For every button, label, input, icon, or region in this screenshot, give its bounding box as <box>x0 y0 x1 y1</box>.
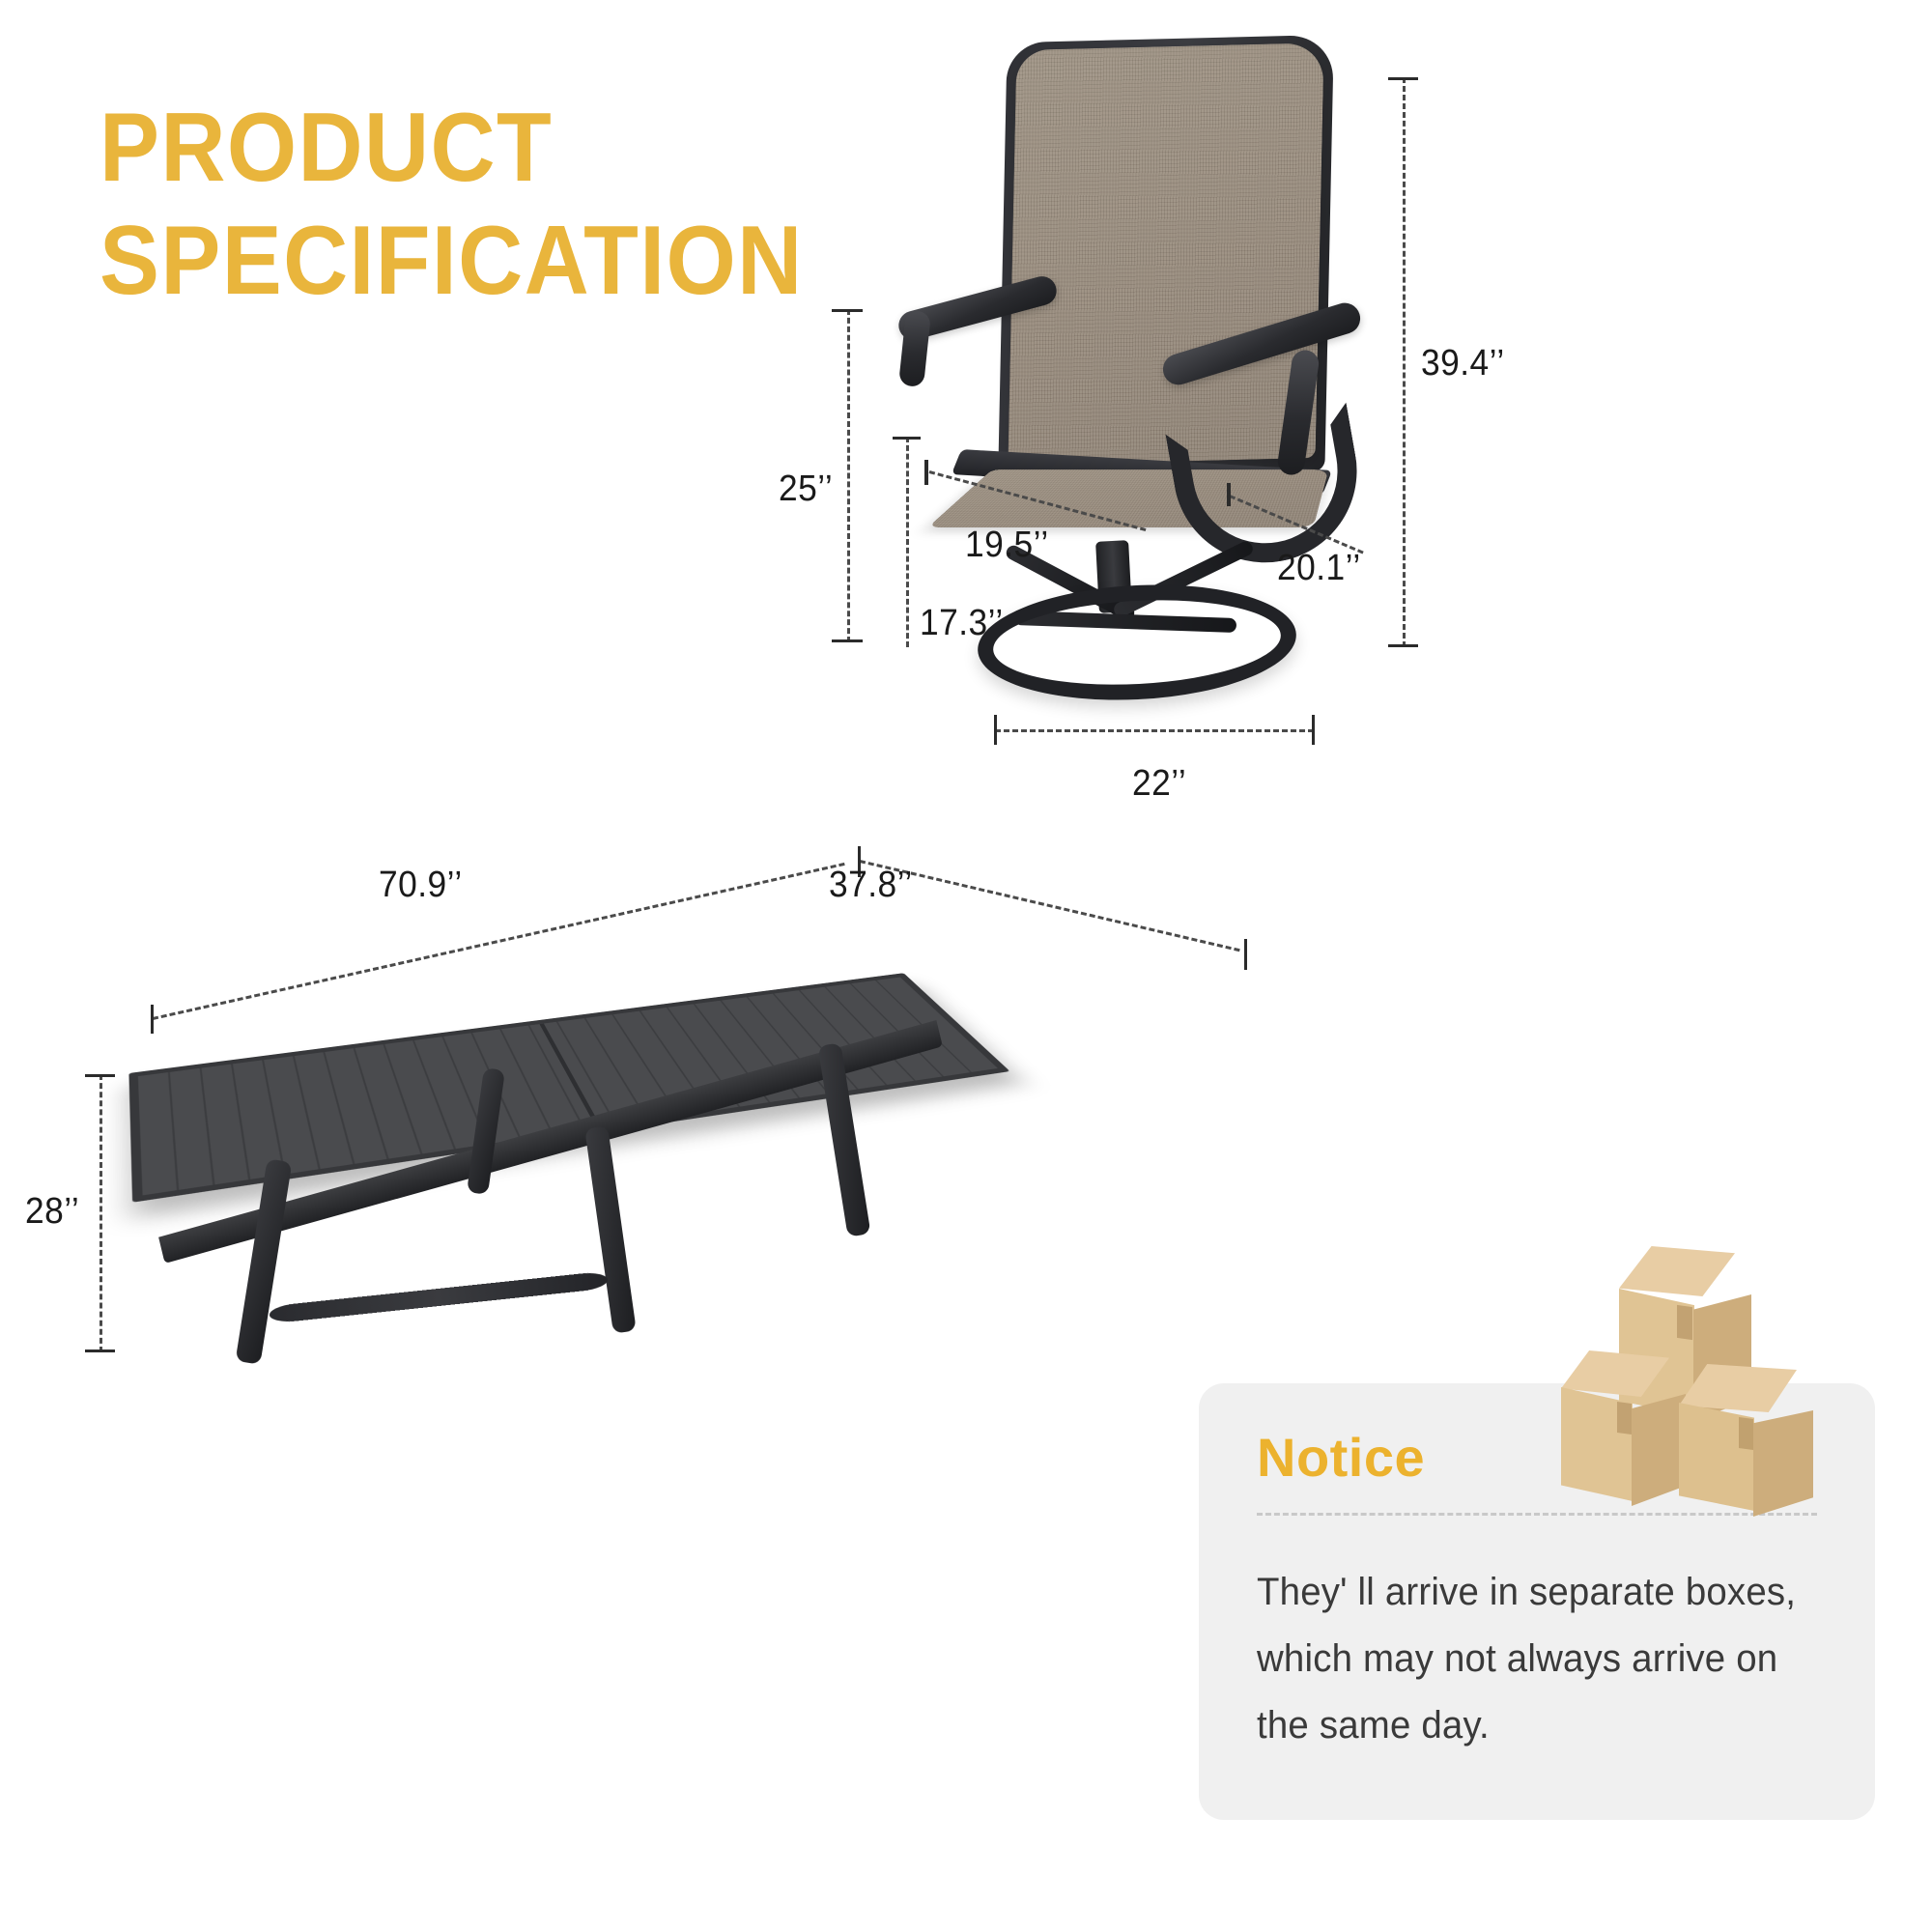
chair-seat-height-line <box>906 437 909 647</box>
chair-seat-height-tick <box>893 437 921 440</box>
page-title: PRODUCT SPECIFICATION <box>99 92 944 318</box>
page-title-line-1: PRODUCT <box>99 92 944 205</box>
table-cross-brace <box>269 1271 609 1324</box>
notice-divider <box>1257 1513 1817 1516</box>
table-height-tick-top <box>85 1074 115 1077</box>
table-width-tick-right <box>1244 939 1247 970</box>
chair-total-height-tick-top <box>1388 77 1418 80</box>
chair-height-25-tick-top <box>832 309 863 312</box>
chair-depth-label: 20.1’’ <box>1277 548 1361 589</box>
table-length-label: 70.9’’ <box>379 865 463 906</box>
chair-base-width-tick-left <box>994 715 997 745</box>
chair-base-width-label: 22’’ <box>1132 763 1186 805</box>
notice-body-text: They' ll arrive in separate boxes, which… <box>1257 1559 1799 1758</box>
chair-height-label: 39.4’’ <box>1421 343 1505 384</box>
table-height-label: 28’’ <box>25 1191 79 1233</box>
table-length-tick-left <box>151 1005 154 1034</box>
chair-base-ring <box>975 577 1299 707</box>
table-top-surface <box>128 973 1009 1203</box>
table-height-tick-bottom <box>85 1350 115 1352</box>
chair-base-width-line <box>995 729 1314 732</box>
chair-seat-depth-tick <box>924 460 928 485</box>
chair-back-height-label: 25’’ <box>779 469 833 510</box>
cardboard-boxes-icon <box>1557 1246 1876 1507</box>
chair-height-25-line <box>847 309 850 642</box>
chair-depth-tick <box>1227 483 1231 506</box>
chair-back-fabric <box>1008 43 1323 466</box>
table-height-line <box>99 1074 102 1352</box>
notice-heading: Notice <box>1257 1426 1425 1489</box>
chair-height-25-tick-bottom <box>832 639 863 642</box>
table-leg-front-right <box>584 1125 637 1333</box>
page-title-line-2: SPECIFICATION <box>99 205 944 318</box>
table-width-label: 37.8’’ <box>829 865 913 906</box>
chair-total-height-line <box>1403 77 1406 647</box>
chair-base-width-tick-right <box>1312 715 1315 745</box>
chair-total-height-tick-bottom <box>1388 644 1418 647</box>
chair-seat-depth-label: 19.5’’ <box>965 525 1049 566</box>
table-illustration <box>116 898 1043 1439</box>
table-center-seam <box>539 1024 601 1128</box>
table-leg-front-left <box>236 1158 293 1364</box>
chair-seat-height-label: 17.3’’ <box>920 603 1004 644</box>
